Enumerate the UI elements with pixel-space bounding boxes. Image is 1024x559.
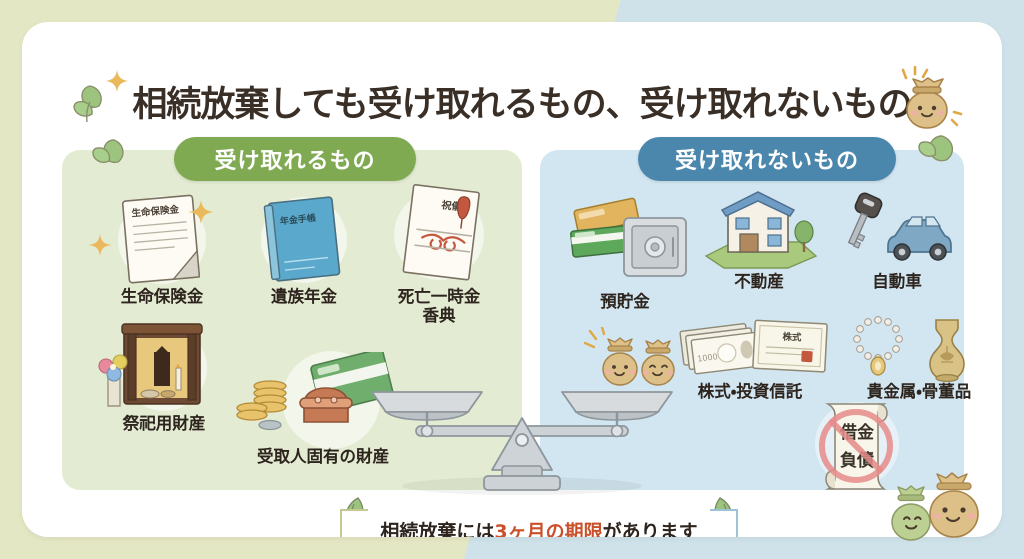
item-survivor-pension[interactable]: 年金手帳 遺族年金 [234,192,374,306]
item-precious-antiques[interactable]: 貴金属・骨董品 [844,312,994,401]
item-life-insurance[interactable]: 生命保険金 生命保険金 [82,192,242,306]
money-bag-character-icon [890,66,964,140]
item-death-lumpsum-koden[interactable]: 祝儀 死亡一時金 香典 [364,182,514,326]
infographic-canvas: 相続放棄しても受け取れるもの、受け取れないもの [0,0,1024,559]
cash-stock-certificate-icon: 1000 株式 [670,312,830,382]
item-label: 祭祀用財産 [123,414,206,433]
banner-corner-bottom-left [340,523,368,537]
tab-receivable[interactable]: 受け取れるもの [174,137,416,181]
pill-label-left: 受け取れるもの [214,143,375,175]
banner-corner-bottom-right [710,523,738,537]
deadline-text: 相続放棄には3ヶ月の期限があります [380,517,697,538]
item-automobile[interactable]: 自動車 [832,190,962,291]
content-card: 相続放棄しても受け取れるもの、受け取れないもの [22,22,1002,537]
money-bag-characters-icon [880,468,1004,554]
item-label: 預貯金 [600,292,650,311]
deadline-suffix: があります [603,521,698,538]
item-label: 株式・投資信託 [698,382,803,401]
title-row: 相続放棄しても受け取れるもの、受け取れないもの [22,70,1002,136]
car-key-icon [832,190,962,272]
item-label-line2: 香典 [423,306,456,325]
safe-bankbook-icon [550,194,700,292]
pill-label-right: 受け取れないもの [675,143,859,175]
item-label: 生命保険金 [121,287,204,306]
leaf-icon [908,132,970,182]
jewelry-antique-vase-icon [844,312,994,382]
deadline-highlight: 3ヶ月の期限 [494,521,602,538]
leaf-icon [78,134,138,182]
pension-handbook-icon: 年金手帳 [234,192,374,287]
item-label: 死亡一時金 香典 [398,287,481,326]
item-deposits[interactable]: 預貯金 [550,194,700,311]
deadline-prefix: 相続放棄には [380,521,494,538]
item-label: 自動車 [872,272,922,291]
money-bag-characters-icon [582,327,692,393]
page-title: 相続放棄しても受け取れるもの、受け取れないもの [122,70,922,132]
sparkle-icon [188,200,214,228]
item-real-estate[interactable]: 不動産 [694,190,824,291]
insurance-document-icon: 生命保険金 [82,192,242,287]
house-land-icon [694,190,824,272]
item-label: 遺族年金 [271,287,337,306]
item-label-line1: 死亡一時金 [398,287,481,306]
condolence-envelope-icon: 祝儀 [364,182,514,287]
deadline-banner: 相続放棄には3ヶ月の期限があります [340,509,738,537]
sparkle-icon [88,234,112,260]
item-label: 不動産 [734,272,784,291]
tab-not-receivable[interactable]: 受け取れないもの [638,137,896,181]
svg-text:株式: 株式 [782,331,802,344]
item-stocks-trusts[interactable]: 1000 株式 株式・投資信託 [670,312,830,401]
